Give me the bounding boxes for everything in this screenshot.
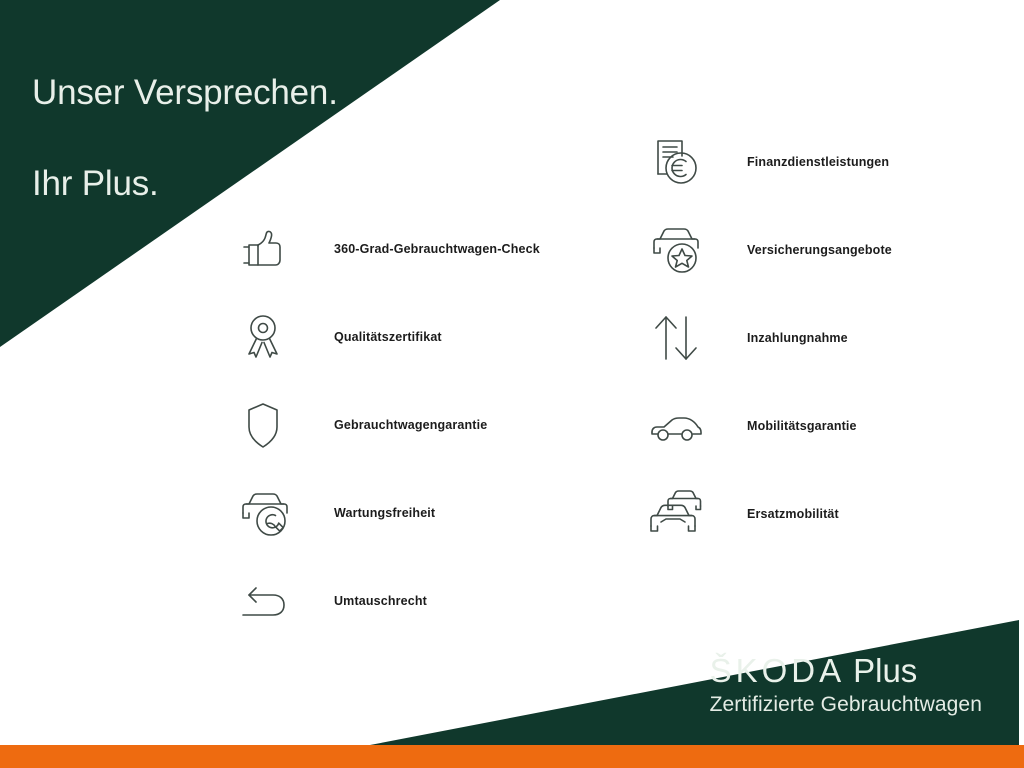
feature-label: Mobilitätsgarantie <box>747 419 857 433</box>
feature-label: Umtauschrecht <box>334 594 427 608</box>
promo-banner: Unser Versprechen. Ihr Plus. 360-Grad-Ge… <box>0 0 1024 768</box>
feature-item: Gebrauchtwagengarantie <box>232 381 602 469</box>
feature-item: Mobilitätsgarantie <box>645 382 975 470</box>
feature-list-left: 360-Grad-Gebrauchtwagen-Check Qualitätsz… <box>232 205 602 645</box>
brand-lockup: ŠKODAPlus Zertifizierte Gebrauchtwagen <box>710 654 982 716</box>
two-cars-icon <box>645 483 707 545</box>
feature-item: Wartungsfreiheit <box>232 469 602 557</box>
headline-line-1: Unser Versprechen. <box>32 70 462 116</box>
feature-item: Versicherungsangebote <box>645 206 975 294</box>
car-star-icon <box>645 219 707 281</box>
feature-list-right: Finanzdienstleistungen Versicherungsange… <box>645 118 975 558</box>
feature-label: Finanzdienstleistungen <box>747 155 889 169</box>
feature-label: Inzahlungnahme <box>747 331 848 345</box>
brand-subline: Zertifizierte Gebrauchtwagen <box>710 693 982 716</box>
feature-label: Ersatzmobilität <box>747 507 839 521</box>
brand-title-row: ŠKODAPlus <box>710 654 982 689</box>
feature-label: Qualitätszertifikat <box>334 330 442 344</box>
feature-item: Umtauschrecht <box>232 557 602 645</box>
feature-label: 360-Grad-Gebrauchtwagen-Check <box>334 242 540 256</box>
feature-item: Ersatzmobilität <box>645 470 975 558</box>
headline-line-2: Ihr Plus. <box>32 161 462 207</box>
shield-icon <box>232 394 294 456</box>
feature-label: Wartungsfreiheit <box>334 506 435 520</box>
feature-item: Qualitätszertifikat <box>232 293 602 381</box>
feature-label: Gebrauchtwagengarantie <box>334 418 487 432</box>
thumbs-up-icon <box>232 218 294 280</box>
up-down-arrows-icon <box>645 307 707 369</box>
feature-item: 360-Grad-Gebrauchtwagen-Check <box>232 205 602 293</box>
skoda-wordmark: ŠKODA <box>710 652 846 689</box>
car-wrench-icon <box>232 482 294 544</box>
return-arrow-icon <box>232 570 294 632</box>
award-rosette-icon <box>232 306 294 368</box>
side-car-icon <box>645 395 707 457</box>
brand-suffix: Plus <box>853 652 917 689</box>
orange-bottom-bar <box>0 745 1024 768</box>
feature-item: Finanzdienstleistungen <box>645 118 975 206</box>
document-euro-icon <box>645 131 707 193</box>
feature-label: Versicherungsangebote <box>747 243 892 257</box>
feature-item: Inzahlungnahme <box>645 294 975 382</box>
